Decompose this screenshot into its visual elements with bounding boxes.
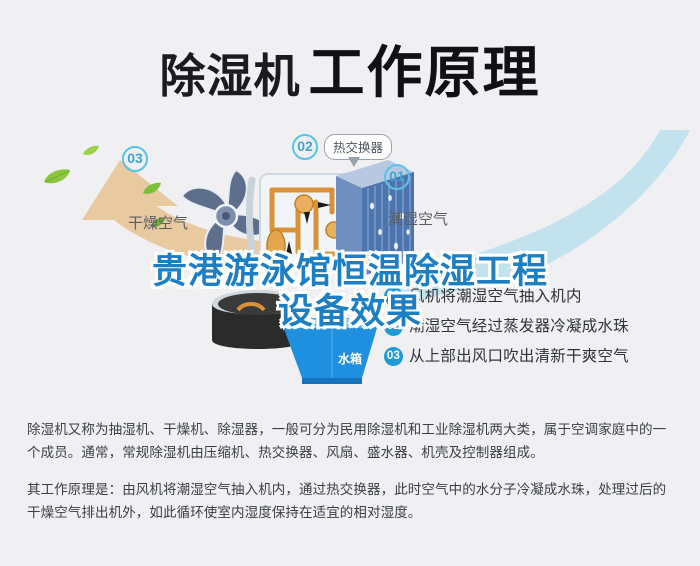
leaf-icon (42, 168, 72, 191)
body-copy: 除湿机又称为抽湿机、干燥机、除湿器，一般可分为民用除湿机和工业除湿机两大类，属于… (27, 418, 677, 524)
body-paragraph-1: 除湿机又称为抽湿机、干燥机、除湿器，一般可分为民用除湿机和工业除湿机两大类，属于… (27, 418, 677, 464)
page-title-part1: 除湿机 (160, 50, 301, 102)
air-inlet-arrow-icon (404, 262, 448, 282)
step-text-02: 潮湿空气经过蒸发器冷凝成水珠 (409, 318, 629, 335)
step-badge-02: 02 (384, 317, 403, 336)
step-text-01: 风机将潮湿空气抽入机内 (409, 288, 582, 305)
infographic-page: 除湿机工作原理 (0, 0, 700, 566)
water-tank-label: 水箱 (338, 350, 362, 367)
scene-badge-01: 01 (384, 164, 410, 190)
page-title: 除湿机工作原理 (0, 28, 700, 109)
dry-air-label: 干燥空气 (128, 212, 188, 233)
callout-stem (348, 157, 360, 167)
water-tank (276, 312, 396, 392)
step-item-02: 02潮湿空气经过蒸发器冷凝成水珠 (384, 312, 700, 342)
step-text-03: 从上部出风口吹出清新干爽空气 (409, 348, 629, 365)
step-item-01: 01风机将潮湿空气抽入机内 (384, 282, 700, 312)
step-badge-01: 01 (384, 287, 403, 306)
step-item-03: 03从上部出风口吹出清新干爽空气 (384, 342, 700, 372)
scene-badge-02: 02 (292, 134, 318, 160)
leaf-icon (142, 182, 162, 201)
leaf-icon (82, 144, 100, 162)
step-badge-03: 03 (384, 347, 403, 366)
scene-badge-03: 03 (122, 146, 148, 172)
page-title-part2: 工作原理 (309, 41, 541, 104)
body-paragraph-2: 其工作原理是：由风机将潮湿空气抽入机内，通过热交换器，此时空气中的水分子冷凝成水… (27, 478, 677, 524)
humid-air-label: 潮湿空气 (388, 208, 448, 229)
process-step-list: 01风机将潮湿空气抽入机内 02潮湿空气经过蒸发器冷凝成水珠 03从上部出风口吹… (384, 282, 700, 372)
